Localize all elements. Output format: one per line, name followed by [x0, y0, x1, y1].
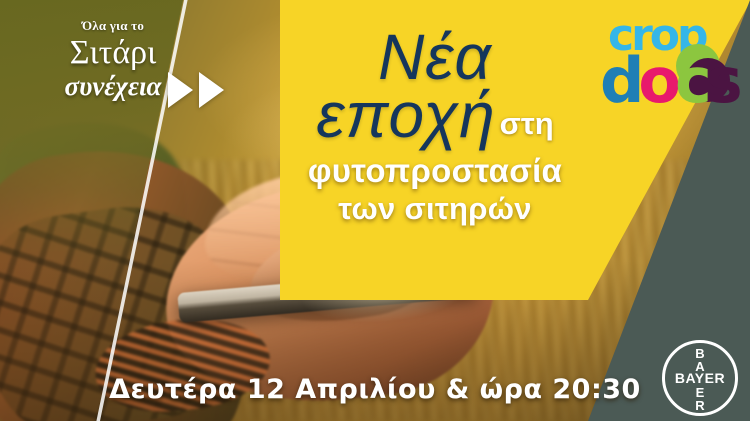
left-panel-kicker: Όλα για το — [18, 18, 208, 34]
left-panel-title: Σιτάρι — [18, 36, 208, 71]
play-arrow-icon — [168, 72, 193, 108]
headline-line-2: εποχή — [316, 85, 495, 146]
headline-line-2-suffix: στη — [500, 108, 554, 146]
play-arrow-icon — [199, 72, 224, 108]
promo-banner: Όλα για το Σιτάρι συνέχεια Νέα εποχή στη… — [0, 0, 750, 421]
event-date-text: Δευτέρα 12 Απριλίου & ώρα 20:30 — [0, 374, 750, 405]
headline-line-4: των σιτηρών — [250, 191, 620, 227]
cropdocs-letter-d: d — [600, 50, 638, 112]
cropdocs-logo-word-docs: docs — [600, 50, 737, 112]
headline-line-2-row: εποχή στη — [250, 85, 620, 146]
headline-block: Νέα εποχή στη φυτοπροστασία των σιτηρών — [250, 28, 620, 227]
cropdocs-letter-o: o — [638, 50, 675, 112]
cropdocs-letter-c: c — [675, 50, 706, 112]
bayer-letter-a: A — [695, 360, 704, 373]
headline-line-3: φυτοπροστασία — [250, 152, 620, 190]
cropdocs-logo[interactable]: crop docs — [600, 14, 740, 122]
cropdocs-letter-s: s — [706, 50, 737, 112]
arrow-group — [168, 72, 224, 108]
